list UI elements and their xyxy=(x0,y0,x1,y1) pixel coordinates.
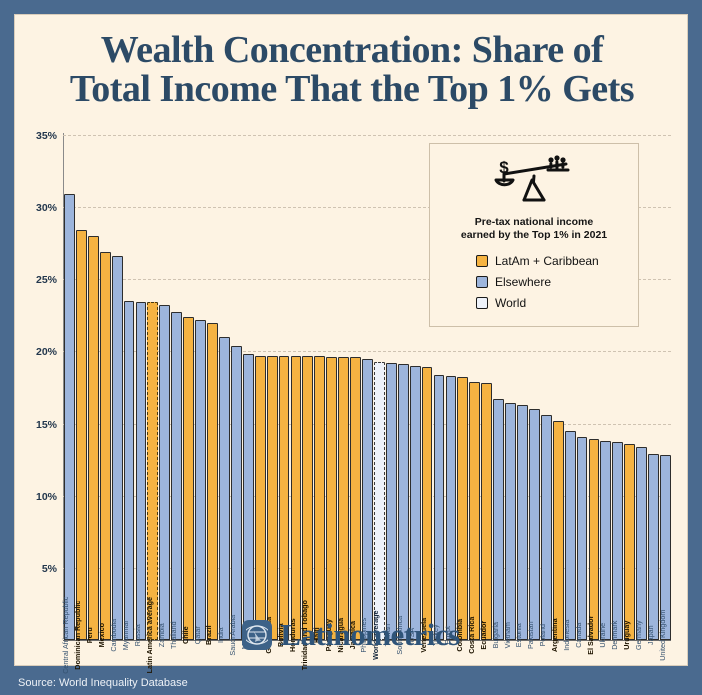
bar-uruguay[interactable]: Uruguay xyxy=(624,444,635,640)
bar-taiwan[interactable]: Taiwan xyxy=(386,363,397,640)
bar-germany[interactable]: Germany xyxy=(636,447,647,640)
y-axis-tick-label: 5% xyxy=(42,563,57,575)
bar-column: Honduras xyxy=(291,135,302,640)
legend-box: $ Pre-tax national income earned by the … xyxy=(429,143,639,327)
bar-column: India xyxy=(219,135,230,640)
bar-column: Central African Republic xyxy=(64,135,75,640)
infographic-root: Wealth Concentration: Share of Total Inc… xyxy=(0,0,702,695)
bar-thailand[interactable]: Thailand xyxy=(171,312,182,640)
bar-column: Paraguay xyxy=(326,135,337,640)
bar-column: Haiti xyxy=(314,135,325,640)
bar-column: Russia xyxy=(136,135,147,640)
legend-item-label: World xyxy=(495,296,526,310)
bar-india[interactable]: India xyxy=(219,337,230,640)
bar-myanmar[interactable]: Myanmar xyxy=(124,301,135,640)
bar-cambodia[interactable]: Cambodia xyxy=(112,256,123,640)
legend-caption: Pre-tax national income earned by the To… xyxy=(430,216,638,242)
bar-usa[interactable]: USA xyxy=(410,366,421,640)
bar-paraguay[interactable]: Paraguay xyxy=(326,357,337,640)
bar-panama[interactable]: Panama xyxy=(255,356,266,640)
source-note: Source: World Inequality Database xyxy=(0,677,702,689)
bar-column: Philippines xyxy=(362,135,373,640)
bar-nicaragua[interactable]: Nicaragua xyxy=(338,357,349,640)
bar-egypt[interactable]: Egypt xyxy=(446,376,457,640)
svg-text:$: $ xyxy=(499,158,509,177)
bar-column: Zambia xyxy=(159,135,170,640)
bar-column: World average xyxy=(374,135,385,640)
bar-dominican-republic[interactable]: Dominican Republic xyxy=(76,230,87,640)
bar-column: Panama xyxy=(255,135,266,640)
bar-latin-america-average[interactable]: Latin America average xyxy=(147,302,158,640)
bar-column: Trinidad and Tobago xyxy=(302,135,313,640)
title-line-1: Wealth Concentration: Share of xyxy=(101,29,604,71)
bar-malaysia[interactable]: Malaysia xyxy=(243,354,254,640)
bar-column: Nicaragua xyxy=(338,135,349,640)
bar-costa-rica[interactable]: Costa Rica xyxy=(469,382,480,640)
bar-pakistan[interactable]: Pakistan xyxy=(529,409,540,640)
bar-column: Malaysia xyxy=(243,135,254,640)
legend-swatch-icon xyxy=(476,297,488,309)
bar-column: Qatar xyxy=(195,135,206,640)
bar-column: United Kingdom xyxy=(660,135,671,640)
bar-haiti[interactable]: Haiti xyxy=(314,356,325,640)
bar-column: Latin America average xyxy=(147,135,158,640)
brand-name: Latinometrics xyxy=(280,617,459,653)
bar-indonesia[interactable]: Indonesia xyxy=(565,431,576,640)
bar-south-africa[interactable]: South Africa xyxy=(398,364,409,640)
legend-item-label: Elsewhere xyxy=(495,275,551,289)
bar-column: Mexico xyxy=(100,135,111,640)
bar-united-kingdom[interactable]: United Kingdom xyxy=(660,455,671,640)
bar-peru[interactable]: Peru xyxy=(88,236,99,640)
legend-swatch-icon xyxy=(476,255,488,267)
y-axis-tick-label: 10% xyxy=(36,491,57,503)
bar-column: Cambodia xyxy=(112,135,123,640)
bar-column: Saudi Arabia xyxy=(231,135,242,640)
bar-brazil[interactable]: Brazil xyxy=(207,323,218,640)
bar-qatar[interactable]: Qatar xyxy=(195,320,206,640)
bar-jamaica[interactable]: Jamaica xyxy=(350,357,361,640)
bar-column: Thailand xyxy=(171,135,182,640)
bar-honduras[interactable]: Honduras xyxy=(291,356,302,640)
bar-column: Taiwan xyxy=(386,135,397,640)
legend-item-label: LatAm + Caribbean xyxy=(495,254,599,268)
bar-venezuela[interactable]: Venezuela xyxy=(422,367,433,640)
bar-column: Dominican Republic xyxy=(76,135,87,640)
bar-column: Bolivia xyxy=(279,135,290,640)
bar-column: Jamaica xyxy=(350,135,361,640)
bar-poland[interactable]: Poland xyxy=(541,415,552,640)
bar-saudi-arabia[interactable]: Saudi Arabia xyxy=(231,346,242,640)
scale-balance-icon: $ xyxy=(430,154,638,210)
y-axis-tick-label: 15% xyxy=(36,419,57,431)
legend-caption-line-2: earned by the Top 1% in 2021 xyxy=(430,229,638,242)
bar-central-african-republic[interactable]: Central African Republic xyxy=(64,194,75,640)
page-title: Wealth Concentration: Share of Total Inc… xyxy=(15,31,689,109)
bar-zambia[interactable]: Zambia xyxy=(159,305,170,640)
bar-column: South Africa xyxy=(398,135,409,640)
y-axis-tick-label: 30% xyxy=(36,202,57,214)
bar-russia[interactable]: Russia xyxy=(136,302,147,640)
bar-el-salvador[interactable]: El Salvador xyxy=(589,439,600,640)
legend-item-world[interactable]: World xyxy=(476,296,599,310)
bar-mexico[interactable]: Mexico xyxy=(100,252,111,640)
legend-item-else[interactable]: Elsewhere xyxy=(476,275,599,289)
bar-vietnam[interactable]: Vietnam xyxy=(505,403,516,640)
y-axis-tick-label: 20% xyxy=(36,346,57,358)
y-axis-tick-label: 25% xyxy=(36,274,57,286)
bar-ecuador[interactable]: Ecuador xyxy=(481,383,492,640)
bar-column: Myanmar xyxy=(124,135,135,640)
bar-bolivia[interactable]: Bolivia xyxy=(279,356,290,640)
legend-caption-line-1: Pre-tax national income xyxy=(430,216,638,229)
bar-column: Japan xyxy=(648,135,659,640)
bar-estonia[interactable]: Estonia xyxy=(517,405,528,640)
bar-bulgaria[interactable]: Bulgaria xyxy=(493,399,504,640)
bar-trinidad-and-tobago[interactable]: Trinidad and Tobago xyxy=(302,356,313,640)
legend-items: LatAm + CaribbeanElsewhereWorld xyxy=(476,254,599,317)
bar-chile[interactable]: Chile xyxy=(183,317,194,640)
bar-colombia[interactable]: Colombia xyxy=(457,377,468,640)
bar-column: Peru xyxy=(88,135,99,640)
legend-swatch-icon xyxy=(476,276,488,288)
legend-item-latam[interactable]: LatAm + Caribbean xyxy=(476,254,599,268)
bar-column: USA xyxy=(410,135,421,640)
bar-canada[interactable]: Canada xyxy=(577,437,588,640)
bar-philippines[interactable]: Philippines xyxy=(362,359,373,640)
chart-panel: Wealth Concentration: Share of Total Inc… xyxy=(14,14,688,666)
title-line-2: Total Income That the Top 1% Gets xyxy=(15,70,689,109)
bar-turkey[interactable]: Turkey xyxy=(434,375,445,640)
bar-column: Chile xyxy=(183,135,194,640)
bar-world-average[interactable]: World average xyxy=(374,362,385,640)
bar-argentina[interactable]: Argentina xyxy=(553,421,564,640)
bar-column: Guatemala xyxy=(267,135,278,640)
bar-ukraine[interactable]: Ukraine xyxy=(600,441,611,640)
brand-footer: Latinometrics xyxy=(15,617,687,653)
bar-guatemala[interactable]: Guatemala xyxy=(267,356,278,640)
y-axis-tick-label: 35% xyxy=(36,130,57,142)
bar-column: Brazil xyxy=(207,135,218,640)
bar-denmark[interactable]: Denmark xyxy=(612,442,623,640)
globe-icon xyxy=(242,620,272,650)
